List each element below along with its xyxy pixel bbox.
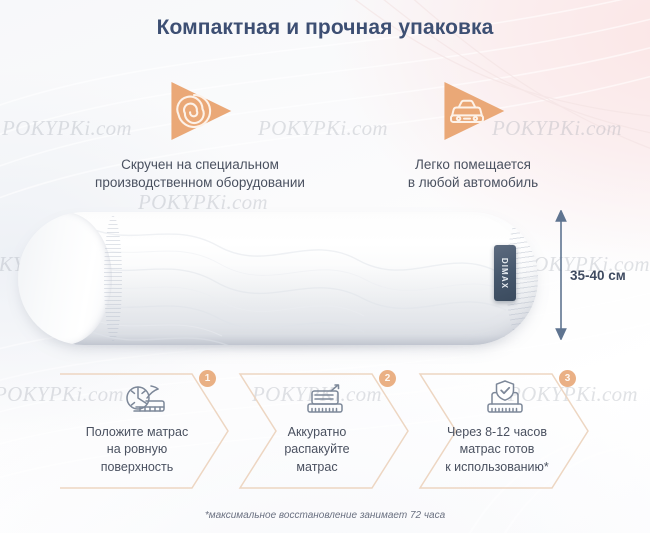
step-number-badge: 2 [379, 370, 396, 387]
step-caption-line2: на ровную [62, 441, 212, 458]
feature-caption: Легко помещается в любой автомобиль [348, 156, 598, 192]
brand-tag: DIMAX [494, 245, 516, 301]
step-caption-line1: Через 8-12 часов [422, 424, 572, 441]
step-card-3: 3 Через 8-12 часов матрас готов к исполь… [412, 368, 598, 494]
mattress-check-icon [481, 378, 529, 418]
feature-caption-line2: в любой автомобиль [348, 174, 598, 192]
feature-caption-line1: Скручен на специальном [60, 156, 340, 174]
step-caption-line2: матрас готов [422, 441, 572, 458]
mattress-unrolling-icon [121, 378, 169, 418]
spiral-roll-badge [166, 78, 234, 144]
mattress-unpack-icon [301, 378, 349, 418]
roll-cap-seam [104, 216, 122, 341]
step-caption: Через 8-12 часов матрас готов к использо… [422, 424, 572, 476]
roll-end-cap [18, 212, 112, 345]
step-caption: Аккуратно распакуйте матрас [242, 424, 392, 476]
car-icon [447, 91, 487, 131]
car-badge [439, 78, 507, 144]
step-number-badge: 3 [559, 370, 576, 387]
mattress-roll-body [18, 212, 538, 345]
step-caption-line3: поверхность [62, 459, 212, 476]
step-caption-line1: Положите матрас [62, 424, 212, 441]
rolled-mattress-image [18, 212, 538, 345]
spiral-roll-icon [174, 91, 214, 131]
step-caption-line2: распакуйте [242, 441, 392, 458]
step-caption-line3: к использованию* [422, 459, 572, 476]
footnote: *максимальное восстановление занимает 72… [0, 510, 650, 521]
step-caption-line3: матрас [242, 459, 392, 476]
page-title: Компактная и прочная упаковка [0, 16, 650, 40]
feature-block-rolled: Скручен на специальном производственном … [60, 78, 340, 192]
step-card-1: 1 Положите матрас на ровную поверхность [52, 368, 238, 494]
feature-caption-line1: Легко помещается [348, 156, 598, 174]
step-card-2: 2 Аккуратно распакуйте матрас [232, 368, 418, 494]
step-caption: Положите матрас на ровную поверхность [62, 424, 212, 476]
instruction-steps: 1 Положите матрас на ровную поверхность [0, 368, 650, 498]
step-number-badge: 1 [199, 370, 216, 387]
brand-tag-label: DIMAX [501, 257, 510, 288]
feature-caption: Скручен на специальном производственном … [60, 156, 340, 192]
promo-banner: POKYPKi.com POKYPKi.com POKYPKi.com POKY… [0, 0, 650, 533]
step-caption-line1: Аккуратно [242, 424, 392, 441]
feature-caption-line2: производственном оборудовании [60, 174, 340, 192]
dimension-label: 35-40 см [570, 268, 626, 283]
feature-block-car: Легко помещается в любой автомобиль [348, 78, 598, 192]
